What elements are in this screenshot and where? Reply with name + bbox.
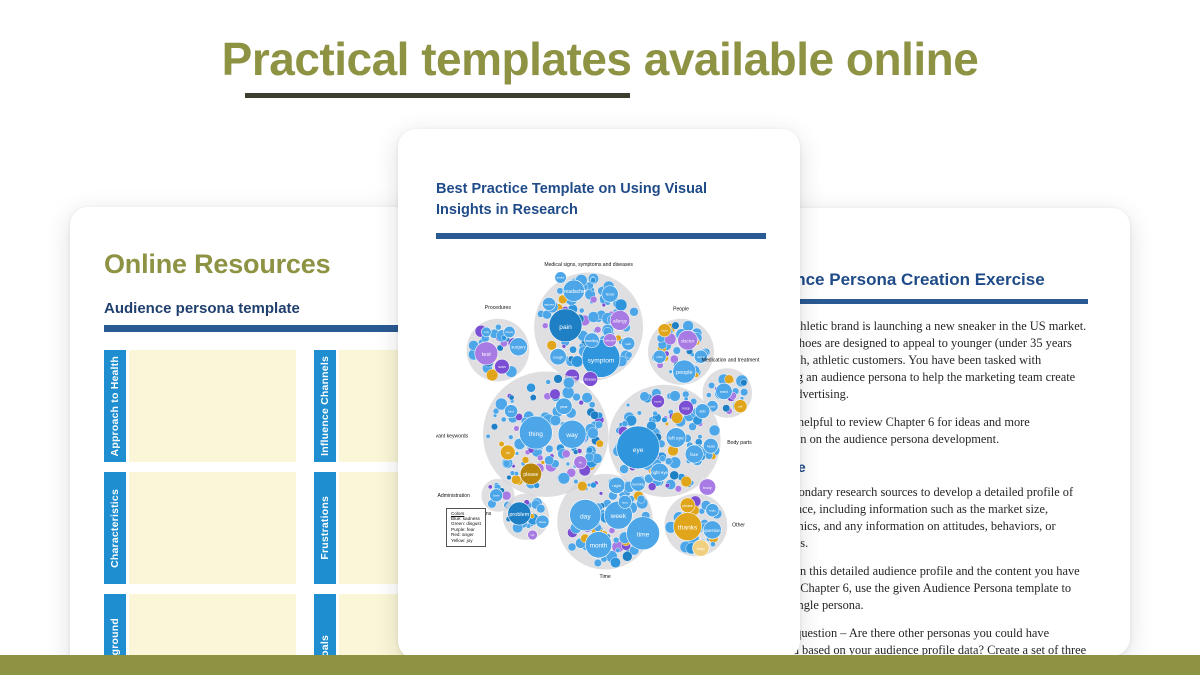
bubble-filler	[698, 435, 702, 439]
bubble-filler	[542, 323, 548, 329]
bubble-filler	[706, 393, 711, 398]
bubble-filler	[491, 423, 498, 430]
bubble-filler	[546, 380, 551, 385]
bubble-filler	[577, 481, 587, 491]
bubble-filler	[546, 445, 554, 453]
bubble-group-label: People	[673, 307, 689, 313]
bubble-label: pain	[559, 324, 572, 331]
bubble-label: biopsy	[505, 330, 514, 334]
page-title: Practical templates available online	[222, 34, 979, 85]
bubble-filler	[709, 425, 720, 436]
bubble-filler	[569, 346, 576, 353]
bubble-filler	[511, 475, 520, 484]
persona-cell[interactable]: Characteristics	[104, 472, 296, 584]
bubble-group-label: Body parts	[727, 440, 752, 446]
bubble-filler	[683, 321, 694, 332]
bubble-filler	[508, 435, 513, 440]
bubble-filler	[648, 483, 656, 491]
persona-tab: Approach to Health	[104, 350, 126, 462]
bubble-group-label: Time	[600, 574, 611, 580]
bubble-filler	[514, 426, 520, 432]
persona-tab-label: Characteristics	[109, 489, 121, 568]
bubble-filler	[507, 475, 512, 480]
bubble-filler	[590, 411, 598, 419]
bubble-filler	[615, 299, 627, 311]
bubble-label: swelling	[586, 339, 599, 343]
bubble-label: morning	[632, 482, 645, 486]
bubble-label: surgery	[511, 345, 526, 350]
bubble-filler	[536, 504, 545, 513]
bubble-filler	[594, 326, 601, 333]
bubble-filler	[659, 455, 665, 461]
bubble-label: scan	[498, 365, 505, 369]
bubble-label: please	[682, 504, 692, 508]
persona-tab-label: Approach to Health	[109, 356, 121, 456]
bubble-group-label: Procedures	[485, 305, 512, 311]
bubble-filler	[590, 296, 597, 303]
bubble-filler	[599, 492, 603, 496]
bubble-filler	[571, 356, 583, 368]
bubble-filler	[665, 458, 672, 465]
best-practice-title: Best Practice Template on Using Visual I…	[436, 179, 766, 221]
bubble-label: mom	[661, 329, 668, 333]
bubble-filler	[550, 415, 561, 426]
bubble-filler	[637, 495, 645, 503]
bubble-group-label: Medical signs, symptoms and diseases	[544, 262, 633, 268]
persona-tab: Characteristics	[104, 472, 126, 584]
bubble-filler	[486, 434, 490, 438]
bubble-label: allergy	[613, 319, 628, 325]
bubble-filler	[530, 394, 536, 400]
bubble-label: hour	[622, 500, 628, 504]
bubble-filler	[673, 347, 681, 355]
bubble-filler	[630, 307, 639, 316]
bubble-filler	[566, 462, 570, 466]
persona-tab-label: Influence Channels	[319, 356, 331, 456]
bubble-label: week	[610, 513, 627, 520]
bubble-filler	[622, 551, 632, 561]
bubble-label: please	[523, 472, 538, 478]
bubble-chart-figure: painsymptomheadacheallergyfevercoughcanc…	[436, 261, 766, 591]
bubble-group-label: Other	[732, 523, 745, 529]
bubble-filler	[558, 472, 570, 484]
persona-cell[interactable]: Approach to Health	[104, 350, 296, 462]
bubble-filler	[579, 400, 584, 405]
bubble-group-label: Irrelevant keywords	[436, 434, 469, 440]
persona-field-approach-to-health[interactable]	[129, 350, 296, 462]
bubble-filler	[669, 370, 673, 374]
bubble-label: problem	[509, 512, 529, 518]
bubble-label: stroke	[557, 276, 565, 280]
bubble-filler	[554, 375, 563, 384]
bubble-filler	[710, 542, 715, 547]
bubble-group: thingwaypleaseyearlotbitkindIrrelevant k…	[436, 372, 608, 497]
bubble-label: dose	[709, 404, 716, 408]
bubble-filler	[725, 375, 734, 384]
bubble-filler	[501, 417, 506, 422]
bubble-filler	[622, 421, 628, 427]
bubble-filler	[541, 461, 545, 465]
bubble-filler	[626, 403, 630, 407]
best-practice-rule	[436, 233, 766, 239]
bubble-filler	[495, 324, 501, 330]
bubble-label: reply	[709, 509, 716, 513]
bubble-filler	[626, 352, 633, 359]
bubble-filler	[562, 344, 566, 348]
bubble-label: help	[697, 546, 705, 551]
bubble-label: fever	[606, 292, 615, 297]
bubble-label: eye	[633, 447, 644, 454]
bubble-filler	[562, 450, 570, 458]
bubble-group-label: Medication and treatment	[702, 358, 760, 364]
bubble-label: right eye	[651, 470, 668, 475]
footer-bar	[0, 655, 1200, 675]
bubble-label: med	[720, 389, 728, 394]
bubble-label: left eye	[668, 436, 684, 442]
bubble-filler	[616, 548, 621, 553]
bubble-label: head	[707, 444, 715, 448]
chart-legend: Colors Blue: sadness Green: disgust Purp…	[446, 508, 486, 547]
bubble-label: skin	[699, 410, 705, 414]
bubble-filler	[514, 471, 518, 475]
bubble-filler	[741, 379, 748, 386]
bubble-label: month	[590, 543, 608, 550]
bubble-label: hand	[654, 400, 661, 404]
bubble-label: doctor	[681, 338, 695, 344]
bubble-label: question	[704, 528, 721, 533]
bubble-label: thing	[529, 431, 544, 438]
bubble-label: child	[656, 355, 663, 359]
bubble-label: night	[612, 483, 621, 488]
bubble-filler	[708, 382, 714, 388]
slide-title-container: Practical templates available online	[0, 34, 1200, 85]
bubble-filler	[723, 405, 730, 412]
bubble-label: bit	[579, 461, 582, 465]
bubble-filler	[681, 476, 692, 487]
bubble-label: body	[703, 485, 712, 490]
bubble-label: thanks	[678, 525, 698, 532]
bubble-label: disease	[584, 378, 596, 382]
bubble-filler	[509, 395, 514, 400]
bubble-filler	[675, 486, 682, 493]
bubble-group: painsymptomheadacheallergyfevercoughcanc…	[534, 262, 643, 386]
bubble-filler	[662, 417, 668, 423]
bubble-filler	[590, 482, 596, 488]
bubble-filler	[568, 543, 576, 551]
legend-item: Yellow: joy	[451, 538, 481, 543]
bubble-label: pill	[739, 405, 743, 409]
bubble-group-label: Administration	[437, 493, 470, 499]
bubble-filler	[503, 460, 510, 467]
bubble-filler	[637, 411, 641, 415]
persona-field-characteristics[interactable]	[129, 472, 296, 584]
bubble-label: time	[637, 532, 650, 539]
bubble-filler	[595, 421, 603, 429]
bubble-label: day	[580, 513, 591, 520]
bubble-filler	[515, 452, 519, 456]
bubble-label: people	[676, 370, 693, 376]
bubble-filler	[527, 383, 536, 392]
bubble-filler	[594, 559, 602, 567]
slide-stage: Practical templates available online Onl…	[0, 0, 1200, 675]
bubble-filler	[588, 312, 599, 323]
persona-tab: Influence Channels	[314, 350, 336, 462]
bubble-label: face	[690, 452, 699, 457]
bubble-filler	[550, 389, 561, 400]
bubble-label: cough	[553, 354, 564, 359]
bubble-filler	[544, 456, 553, 465]
bubble-filler	[587, 428, 598, 439]
bubble-filler	[591, 288, 595, 292]
bubble-filler	[596, 440, 603, 447]
bubble-label: test	[482, 352, 491, 358]
best-practice-card-body: Best Practice Template on Using Visual I…	[398, 129, 800, 591]
bubble-filler	[563, 377, 574, 388]
bubble-filler	[670, 391, 681, 402]
bubble-label: symptom	[588, 357, 615, 364]
bubble-label: nausea	[544, 302, 555, 306]
bubble-label: nose	[682, 406, 690, 410]
bubble-label: headache	[563, 289, 586, 295]
bubble-group: testsurgeryscanbiopsyx-rayProcedures	[467, 305, 530, 382]
bubble-filler	[610, 557, 620, 567]
bubble-filler	[537, 455, 543, 461]
persona-tab: Frustrations	[314, 472, 336, 584]
bubble-filler	[640, 392, 650, 402]
bubble-filler	[499, 441, 504, 446]
bubble-group: thanksquestionhelppleasereplyOther	[665, 494, 746, 557]
persona-tab-label: Frustrations	[319, 496, 331, 560]
bubble-group: peopledoctormomnursechildPeople	[648, 307, 714, 385]
bubble-label: issue	[539, 520, 547, 524]
bubble-filler	[613, 537, 619, 543]
bubble-filler	[573, 450, 578, 455]
bubble-label: x-ray	[484, 331, 490, 334]
bubble-filler	[665, 483, 670, 488]
bubble-label: year	[560, 404, 568, 409]
bubble-label: infection	[604, 339, 616, 343]
best-practice-template-card[interactable]: Best Practice Template on Using Visual I…	[398, 129, 800, 659]
bubble-filler	[653, 411, 658, 416]
bubble-filler	[589, 402, 595, 408]
bubble-filler	[672, 322, 680, 330]
bubble-label: rash	[625, 342, 631, 346]
bubble-filler	[591, 278, 596, 283]
bubble-filler	[665, 422, 669, 426]
bubble-filler	[740, 388, 748, 396]
bubble-filler	[670, 471, 679, 480]
bubble-filler	[488, 485, 492, 489]
bubble-filler	[522, 457, 529, 464]
bubble-filler	[579, 308, 584, 313]
bubble-label: form	[493, 494, 500, 498]
bubble-label: way	[565, 432, 578, 439]
bubble-label: lot	[506, 451, 510, 455]
bubble-label: kind	[508, 410, 514, 414]
title-underline-rule	[245, 93, 630, 98]
bubble-filler	[586, 447, 592, 453]
